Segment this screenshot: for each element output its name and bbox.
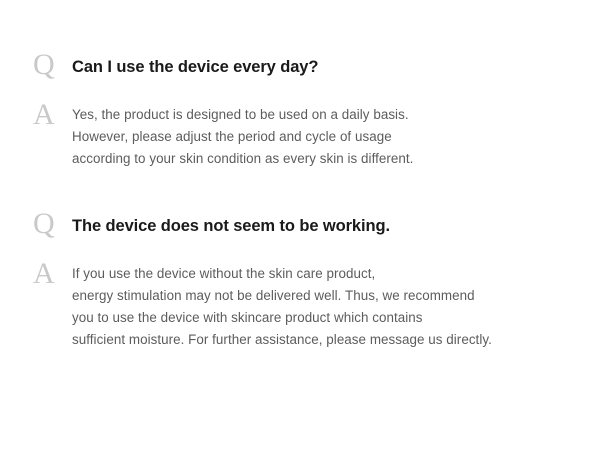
faq-answer-row: A If you use the device without the skin… [33,263,582,351]
answer-line: energy stimulation may not be delivered … [72,285,582,307]
faq-answer-text: Yes, the product is designed to be used … [72,104,582,170]
answer-marker-icon: A [33,100,72,130]
faq-answer-text: If you use the device without the skin c… [72,263,582,351]
faq-question-row[interactable]: Q Can I use the device every day? [33,56,582,86]
faq-item[interactable]: Q Can I use the device every day? A Yes,… [0,56,600,170]
faq-list: Q Can I use the device every day? A Yes,… [0,56,600,351]
answer-marker-icon: A [33,259,72,289]
faq-question-row[interactable]: Q The device does not seem to be working… [33,215,582,245]
faq-question-text: Can I use the device every day? [72,56,582,78]
answer-line: sufficient moisture. For further assista… [72,329,582,351]
faq-item[interactable]: Q The device does not seem to be working… [0,215,600,351]
answer-line: according to your skin condition as ever… [72,148,582,170]
answer-line: Yes, the product is designed to be used … [72,104,582,126]
question-marker-icon: Q [33,209,72,239]
answer-line: However, please adjust the period and cy… [72,126,582,148]
answer-line: you to use the device with skincare prod… [72,307,582,329]
faq-question-text: The device does not seem to be working. [72,215,582,237]
answer-line: If you use the device without the skin c… [72,263,582,285]
faq-panel: Q Can I use the device every day? A Yes,… [0,0,600,450]
faq-answer-row: A Yes, the product is designed to be use… [33,104,582,170]
question-marker-icon: Q [33,50,72,80]
